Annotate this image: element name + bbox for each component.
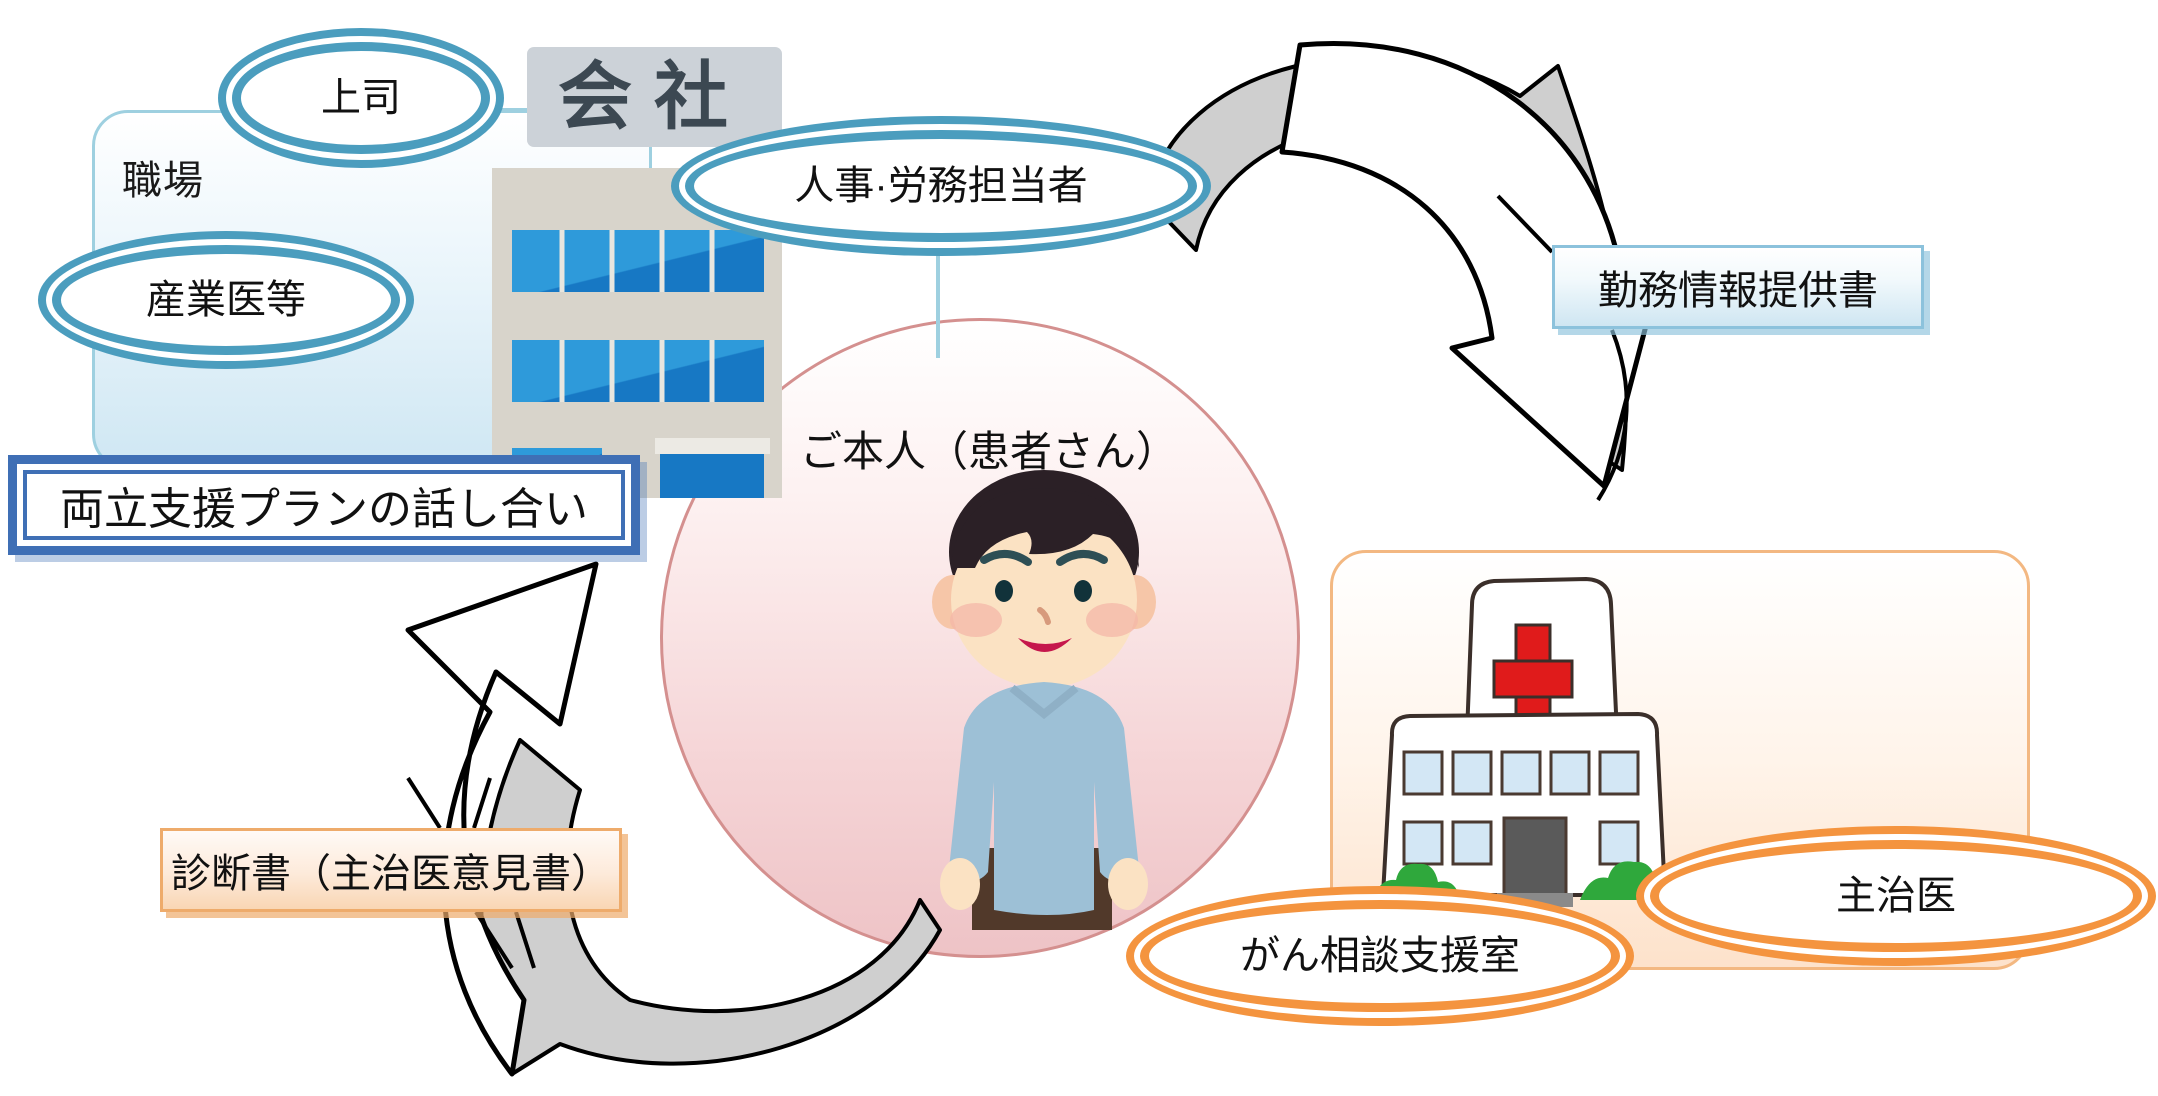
leader-line-shindan-d bbox=[516, 912, 534, 968]
connector-jinji-to-workplace bbox=[936, 238, 940, 358]
document-label-shindan: 診断書（主治医意見書） bbox=[171, 841, 611, 899]
patient-person-illustration bbox=[880, 460, 1210, 930]
document-label-kinmu: 勤務情報提供書 bbox=[1598, 258, 1878, 316]
leader-line-shindan-a bbox=[408, 778, 440, 828]
role-ellipse-jinji[interactable]: 人事·労務担当者 bbox=[685, 130, 1197, 242]
role-label-joushi: 上司 bbox=[321, 76, 401, 120]
leader-line-kinmu-top bbox=[1498, 196, 1552, 252]
leader-line-shindan-c bbox=[476, 912, 512, 968]
role-ellipse-joushi[interactable]: 上司 bbox=[232, 42, 490, 154]
diagram-canvas: 職場 会社 bbox=[0, 0, 2158, 1096]
role-ellipse-gansoudan[interactable]: がん相談支援室 bbox=[1140, 900, 1620, 1012]
role-label-gansoudan: がん相談支援室 bbox=[1240, 934, 1520, 978]
role-label-shujii: 主治医 bbox=[1836, 874, 1956, 918]
role-label-jinji: 人事·労務担当者 bbox=[794, 164, 1087, 208]
document-box-plan[interactable]: 両立支援プランの話し合い bbox=[8, 455, 640, 555]
leader-line-shindan-b bbox=[474, 778, 490, 828]
document-box-kinmu[interactable]: 勤務情報提供書 bbox=[1552, 245, 1924, 329]
leader-line-kinmu-bottom bbox=[1598, 330, 1627, 500]
role-label-sangyoui: 産業医等 bbox=[146, 278, 306, 322]
role-ellipse-sangyoui[interactable]: 産業医等 bbox=[52, 245, 400, 355]
document-box-shindan[interactable]: 診断書（主治医意見書） bbox=[160, 828, 622, 912]
workplace-label: 職場 bbox=[122, 148, 204, 206]
role-ellipse-shujii[interactable]: 主治医 bbox=[1650, 840, 2142, 952]
arrow-hospital-to-workplace-outline bbox=[408, 564, 596, 1074]
document-label-plan: 両立支援プランの話し合い bbox=[60, 473, 588, 537]
